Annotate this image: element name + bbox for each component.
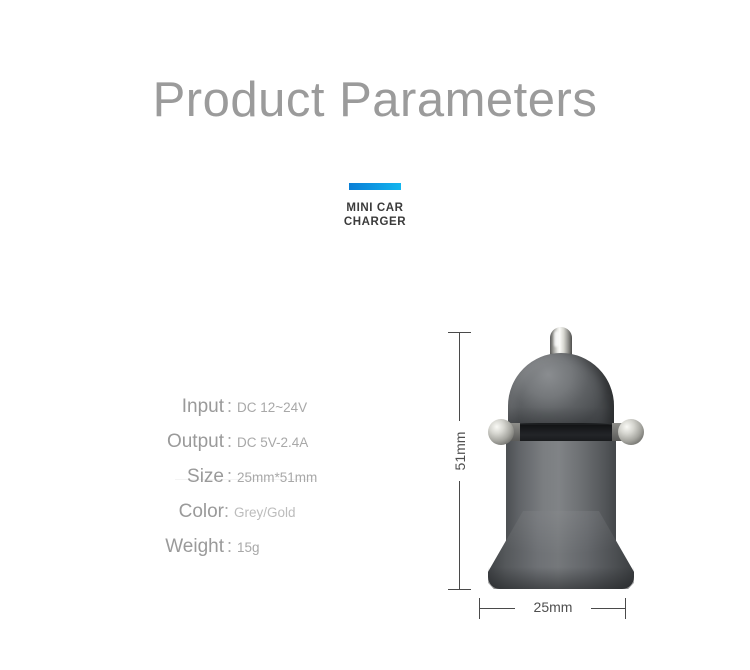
height-dimension-label: 51mm xyxy=(450,421,470,481)
charger-side-contact-right xyxy=(618,419,644,445)
product-image xyxy=(430,315,730,635)
subtitle-block: MINI CAR CHARGER xyxy=(0,183,750,229)
spec-label-input: Input xyxy=(74,396,224,418)
spec-separator: : xyxy=(224,431,237,452)
width-dimension-line-right xyxy=(586,608,626,609)
spec-value-weight: 15g xyxy=(237,540,260,555)
spec-row-color: Color : Grey/Gold xyxy=(74,501,334,536)
charger-tip-highlight xyxy=(554,331,559,347)
car-charger-illustration xyxy=(430,315,730,615)
spec-label-weight: Weight xyxy=(74,536,224,558)
spec-separator: : xyxy=(224,501,234,522)
spec-list: Input : DC 12~24V Output : DC 5V-2.4A Si… xyxy=(74,396,334,571)
width-dimension-line-left xyxy=(479,608,519,609)
charger-side-contact-left xyxy=(488,419,514,445)
spec-label-size: Size xyxy=(74,466,224,488)
subtitle-line-2: CHARGER xyxy=(0,215,750,229)
spec-value-input: DC 12~24V xyxy=(237,400,307,415)
spec-row-weight: Weight : 15g xyxy=(74,536,334,571)
spec-row-output: Output : DC 5V-2.4A xyxy=(74,431,334,466)
width-dimension-label: 25mm xyxy=(515,599,591,615)
height-dimension-cap-bottom xyxy=(448,589,471,590)
spec-separator: : xyxy=(224,466,237,487)
spec-row-size: Size : 25mm*51mm xyxy=(74,466,334,501)
subtitle-line-1: MINI CAR xyxy=(0,201,750,215)
spec-label-color: Color xyxy=(74,501,224,523)
accent-bar xyxy=(349,183,401,190)
spec-row-input: Input : DC 12~24V xyxy=(74,396,334,431)
spec-separator: : xyxy=(224,536,237,557)
spec-value-output: DC 5V-2.4A xyxy=(237,435,308,450)
spec-value-color: Grey/Gold xyxy=(234,505,296,520)
spec-value-size: 25mm*51mm xyxy=(237,470,317,485)
spec-separator: : xyxy=(224,396,237,417)
charger-base-shadow xyxy=(488,567,634,589)
spec-label-output: Output xyxy=(74,431,224,453)
page-title: Product Parameters xyxy=(0,72,750,128)
